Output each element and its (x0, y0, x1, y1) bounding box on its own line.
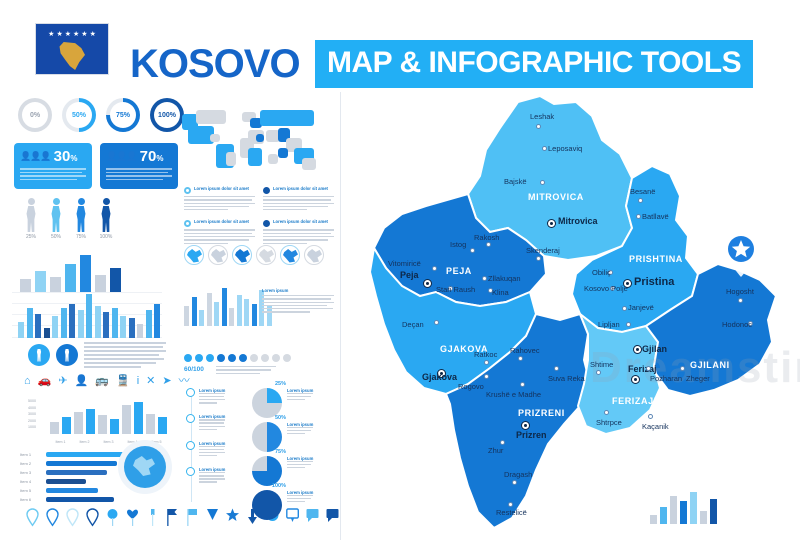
bar-a-6 (110, 268, 121, 292)
kosovo-silhouette (59, 42, 85, 70)
kosovo-map[interactable]: Dreamstime MITROVICAPRISHTINAPEJAGJAKOVA… (340, 88, 800, 548)
globe-icon-0 (184, 245, 204, 265)
bar-b-2 (35, 314, 41, 338)
pin-needle-icon[interactable] (146, 508, 159, 527)
text-block-body-2 (184, 229, 255, 243)
rating-dot-7 (261, 354, 269, 362)
bar-c-2-0 (98, 415, 107, 434)
mini-bar-6 (710, 499, 717, 524)
chart-c-y-axis: 50004000300020001000 (28, 398, 36, 431)
gender-description-text (84, 342, 166, 370)
city-marker-1 (542, 146, 547, 151)
globe-badge-icon (118, 440, 172, 494)
pin-dot-icon[interactable] (106, 508, 119, 527)
bar-c-0-1 (62, 417, 71, 434)
pie-label-3: 100% (272, 483, 286, 489)
person-head-3 (103, 198, 110, 205)
timeline-body-1 (199, 419, 225, 430)
pin-star-icon[interactable] (226, 508, 239, 527)
hbar-label-0: Item 1 (20, 452, 46, 457)
text-block-head-2: Lorem ipsum dolor sit amet (184, 219, 255, 227)
timeline-body-2 (199, 446, 225, 457)
pie-item-2: 75%Lorem ipsum (252, 456, 336, 486)
donut-label-2: 75% (116, 112, 130, 119)
person-figure-3: 100% (97, 198, 115, 240)
world-map-region-8 (260, 110, 314, 126)
dot-rating-label: 60/100 (184, 366, 204, 373)
mid-bar-3 (207, 293, 212, 326)
page-title: KOSOVO (130, 42, 300, 87)
pie-chart-3: 100% (252, 490, 282, 520)
pie-chart-1: 50% (252, 422, 282, 452)
city-marker-31 (680, 366, 685, 371)
city-marker-35 (648, 414, 653, 419)
rating-dot-2 (206, 354, 214, 362)
chart-c-columns (50, 402, 167, 434)
city-marker-24 (518, 356, 523, 361)
mid-text-title: Lorem ipsum (262, 288, 334, 293)
person-body-2 (74, 206, 88, 232)
globe-icon-3 (256, 245, 276, 265)
bar-b-13 (129, 318, 135, 338)
text-block-bullet-0 (184, 187, 191, 194)
text-block-2: Lorem ipsum dolor sit amet (184, 219, 255, 243)
pie-chart-2: 75% (252, 456, 282, 486)
rating-dot-0 (184, 354, 192, 362)
hbar-label-1: Item 2 (20, 461, 46, 466)
bar-b-14 (137, 324, 143, 338)
city-marker-33 (522, 422, 529, 429)
timeline-item-2: Lorem ipsum (186, 441, 260, 458)
flag-stars: ★★★★★★ (48, 31, 96, 38)
text-block-head-1: Lorem ipsum dolor sit amet (263, 186, 334, 194)
city-marker-36 (500, 440, 505, 445)
city-marker-32 (520, 382, 525, 387)
timeline-list: Lorem ipsumLorem ipsumLorem ipsumLorem i… (186, 388, 260, 494)
mid-bar-chart (184, 286, 272, 326)
text-block-title-0: Lorem ipsum dolor sit amet (194, 186, 249, 192)
city-marker-30 (646, 366, 651, 371)
bar-b-9 (95, 306, 101, 338)
text-block-head-3: Lorem ipsum dolor sit amet (263, 219, 334, 227)
globe-icon-1 (208, 245, 228, 265)
infographic-page: ★★★★★★ KOSOVO MAP & INFOGRAPHIC TOOLS 0%… (0, 0, 800, 555)
bar-b-10 (103, 312, 109, 338)
bar-c-4-0 (146, 414, 155, 434)
page-header: ★★★★★★ KOSOVO MAP & INFOGRAPHIC TOOLS (0, 18, 800, 80)
hbar-fill-3 (46, 479, 86, 484)
mid-bar-7 (237, 295, 242, 326)
city-marker-15 (610, 286, 615, 291)
bar-c-1-1 (86, 409, 95, 435)
mini-bar-2 (670, 496, 677, 524)
bar-b-0 (18, 322, 24, 338)
bar-c-4-1 (158, 417, 167, 434)
mini-bar-chart (650, 490, 717, 524)
pie-meta-0: Lorem ipsum (287, 388, 313, 402)
text-column-0: Lorem ipsum dolor sit ametLorem ipsum do… (184, 186, 255, 253)
map-pin-star-icon[interactable] (722, 231, 760, 279)
person-figure-2: 75% (72, 198, 90, 240)
cross-icon[interactable]: ✕ (146, 376, 155, 387)
pie-meta-3: Lorem ipsum (287, 490, 313, 504)
text-block-head-0: Lorem ipsum dolor sit amet (184, 186, 255, 194)
mid-bar-8 (244, 299, 249, 326)
person-body-0 (24, 206, 38, 232)
city-marker-5 (636, 214, 641, 219)
city-marker-20 (434, 320, 439, 325)
city-marker-12 (488, 288, 493, 293)
bar-a-3 (65, 264, 76, 292)
timeline-meta-3: Lorem ipsum (199, 467, 225, 484)
pie-item-3: 100%Lorem ipsum (252, 490, 336, 520)
mini-bar-4 (690, 492, 697, 524)
mid-bar-4 (214, 302, 219, 326)
stat-card-group: 👤👤👤30%👤👤👤70% (14, 143, 178, 189)
text-block-3: Lorem ipsum dolor sit amet (263, 219, 334, 243)
bar-c-3-0 (122, 405, 131, 434)
hbar-label-2: Item 3 (20, 470, 46, 475)
world-map-region-5 (226, 152, 236, 166)
city-marker-29 (484, 374, 489, 379)
donut-chart-group: 0%50%75%100% (18, 98, 184, 132)
city-marker-38 (508, 502, 513, 507)
donut-chart-3: 100% (150, 98, 184, 132)
pie-title-1: Lorem ipsum (287, 422, 313, 427)
hbar-label-3: Item 4 (20, 479, 46, 484)
city-marker-6 (536, 256, 541, 261)
donut-label-0: 0% (30, 112, 40, 119)
donut-label-1: 50% (72, 112, 86, 119)
text-block-bullet-3 (263, 220, 270, 227)
info-icon[interactable]: i (137, 376, 139, 387)
person-label-2: 75% (72, 234, 90, 240)
city-marker-18 (622, 306, 627, 311)
mid-bar-6 (229, 308, 234, 326)
pin-triangle-icon[interactable] (206, 508, 219, 527)
world-map-region-18 (278, 148, 288, 158)
timeline-title-3: Lorem ipsum (199, 467, 225, 472)
pie-label-2: 75% (275, 449, 286, 455)
text-block-body-0 (184, 196, 255, 210)
person-label-0: 25% (22, 234, 40, 240)
text-block-title-1: Lorem ipsum dolor sit amet (273, 186, 328, 192)
person-head-2 (78, 198, 85, 205)
bar-b-4 (52, 316, 58, 338)
timeline-meta-0: Lorem ipsum (199, 388, 225, 405)
pin-outline-blue-icon[interactable] (86, 508, 99, 527)
pie-title-2: Lorem ipsum (287, 456, 313, 461)
bar-c-1-0 (74, 412, 83, 434)
stat-card-lines-0 (20, 168, 86, 180)
pin-outline-mid-icon[interactable] (46, 508, 59, 527)
city-marker-37 (512, 480, 517, 485)
pie-chart-0: 25% (252, 388, 282, 418)
bar-b-15 (146, 310, 152, 338)
timeline-marker-0 (186, 388, 195, 397)
bar-b-11 (112, 308, 118, 338)
mini-bar-5 (700, 511, 707, 524)
stat-card-value-0: 30% (54, 148, 78, 165)
stat-card-value-1: 70% (140, 148, 164, 165)
rating-dot-5 (239, 354, 247, 362)
text-block-body-1 (263, 196, 334, 210)
text-block-columns: Lorem ipsum dolor sit ametLorem ipsum do… (184, 186, 334, 253)
bar-b-3 (44, 328, 50, 338)
world-map-region-1 (196, 110, 226, 124)
text-column-1: Lorem ipsum dolor sit ametLorem ipsum do… (263, 186, 334, 253)
bar-c-3-1 (134, 402, 143, 434)
city-marker-9 (432, 266, 437, 271)
city-marker-23 (484, 360, 489, 365)
timeline-meta-1: Lorem ipsum (199, 414, 225, 431)
donut-chart-0: 0% (18, 98, 52, 132)
bar-b-16 (154, 304, 160, 338)
person-body-1 (49, 206, 63, 232)
hbar-fill-1 (46, 461, 117, 466)
globe-icon-2 (232, 245, 252, 265)
hbar-label-4: Item 5 (20, 488, 46, 493)
world-map-region-3 (210, 134, 220, 142)
world-map-region-19 (268, 154, 278, 164)
city-marker-4 (638, 198, 643, 203)
text-block-body-3 (263, 229, 334, 243)
transport-icon-row: ⌂🚗✈👤🚌🚆i✕➤〰 (24, 376, 190, 387)
hbar-label-5: Item 6 (20, 497, 46, 502)
city-marker-19 (748, 321, 753, 326)
stat-card-1: 👤👤👤70% (100, 143, 178, 189)
text-block-0: Lorem ipsum dolor sit amet (184, 186, 255, 210)
mid-bar-0 (184, 306, 189, 326)
chart-c-label-1: Item 2 (74, 440, 95, 444)
pie-title-3: Lorem ipsum (287, 490, 313, 495)
mid-bar-2 (199, 310, 204, 326)
pie-label-0: 25% (275, 381, 286, 387)
person-head-0 (28, 198, 35, 205)
stat-card-top-1: 👤👤👤70% (106, 148, 172, 165)
bar-b-1 (27, 308, 33, 338)
timeline-item-3: Lorem ipsum (186, 467, 260, 484)
page-subtitle-banner: MAP & INFOGRAPHIC TOOLS (315, 40, 753, 88)
city-marker-3 (548, 220, 555, 227)
donut-chart-1: 50% (62, 98, 96, 132)
rating-dot-9 (283, 354, 291, 362)
mid-bar-5 (222, 288, 227, 326)
rating-dot-6 (250, 354, 258, 362)
bar-a-5 (95, 275, 106, 292)
mid-bar-1 (192, 297, 197, 326)
timeline-body-0 (199, 393, 225, 404)
pie-meta-2: Lorem ipsum (287, 456, 313, 470)
female-icon (56, 344, 78, 366)
people-icon-0: 👤👤👤 (20, 151, 51, 162)
donut-label-3: 100% (158, 112, 176, 119)
rating-dot-8 (272, 354, 280, 362)
text-block-bullet-2 (184, 220, 191, 227)
city-marker-26 (632, 376, 639, 383)
bar-chart-a (20, 250, 121, 292)
bar-b-7 (78, 310, 84, 338)
gender-icon-group (28, 344, 78, 366)
people-icon-1: 👤👤👤 (106, 151, 137, 162)
person-head-1 (53, 198, 60, 205)
pin-outline-light-icon[interactable] (26, 508, 39, 527)
chart-c-label-0: Item 1 (50, 440, 71, 444)
send-icon[interactable]: ➤ (162, 376, 171, 387)
world-map-region-10 (256, 134, 264, 142)
hbar-fill-2 (46, 470, 107, 475)
rating-dot-1 (195, 354, 203, 362)
city-marker-14 (608, 270, 613, 275)
male-icon (28, 344, 50, 366)
pin-outline-pale-icon[interactable] (66, 508, 79, 527)
rating-dot-3 (217, 354, 225, 362)
world-map-icon (182, 104, 330, 178)
world-map-region-17 (302, 158, 316, 170)
stat-card-0: 👤👤👤30% (14, 143, 92, 189)
timeline-title-2: Lorem ipsum (199, 441, 225, 446)
person-icon[interactable]: 👤 (75, 376, 89, 387)
bar-c-0-0 (50, 422, 59, 434)
donut-chart-2: 75% (106, 98, 140, 132)
bar-b-8 (86, 294, 92, 338)
timeline-title-0: Lorem ipsum (199, 388, 225, 393)
mid-bar-9 (252, 304, 257, 326)
world-map-region-14 (248, 148, 262, 166)
rating-dot-4 (228, 354, 236, 362)
bar-a-1 (35, 271, 46, 292)
timeline-meta-2: Lorem ipsum (199, 441, 225, 458)
hbar-row-5: Item 6 (20, 497, 175, 502)
city-marker-0 (536, 124, 541, 129)
text-block-bullet-1 (263, 187, 270, 194)
train-icon[interactable]: 🚆 (116, 376, 130, 387)
bar-a-0 (20, 279, 31, 292)
bar-c-2-1 (110, 419, 119, 434)
city-marker-34 (604, 410, 609, 415)
pie-label-1: 50% (275, 415, 286, 421)
pin-flag-light-icon[interactable] (186, 508, 199, 527)
city-marker-13 (448, 286, 453, 291)
globe-icon-row (184, 245, 324, 265)
mid-text-block: Lorem ipsum (262, 288, 334, 315)
person-label-3: 100% (97, 234, 115, 240)
timeline-marker-1 (186, 414, 195, 423)
timeline-title-1: Lorem ipsum (199, 414, 225, 419)
timeline-marker-2 (186, 441, 195, 450)
city-marker-2 (540, 180, 545, 185)
text-block-title-2: Lorem ipsum dolor sit amet (194, 219, 249, 225)
city-marker-28 (554, 366, 559, 371)
bar-a-4 (80, 255, 91, 292)
hbar-fill-4 (46, 488, 98, 493)
pie-item-0: 25%Lorem ipsum (252, 388, 336, 418)
timeline-marker-3 (186, 467, 195, 476)
chart-c-label-2: Item 3 (98, 440, 119, 444)
pin-flag-dark-icon[interactable] (166, 508, 179, 527)
kosovo-map-svg (340, 88, 800, 548)
mini-bar-1 (660, 507, 667, 524)
mini-bar-3 (680, 501, 687, 524)
pin-heart-icon[interactable] (126, 508, 139, 527)
pie-chart-list: 25%Lorem ipsum50%Lorem ipsum75%Lorem ips… (252, 388, 336, 524)
city-marker-16 (624, 280, 631, 287)
city-marker-10 (424, 280, 431, 287)
person-figure-1: 50% (47, 198, 65, 240)
bus-icon[interactable]: 🚌 (95, 376, 109, 387)
kosovo-flag-icon: ★★★★★★ (35, 23, 109, 75)
people-percentage-group: 25%50%75%100% (22, 198, 115, 240)
city-marker-25 (596, 370, 601, 375)
city-marker-21 (626, 322, 631, 327)
bar-b-5 (61, 308, 67, 338)
pie-title-0: Lorem ipsum (287, 388, 313, 393)
city-marker-8 (470, 248, 475, 253)
bar-a-2 (50, 277, 61, 292)
city-marker-17 (738, 298, 743, 303)
city-marker-7 (486, 242, 491, 247)
globe-icon-4 (280, 245, 300, 265)
city-marker-22 (634, 346, 641, 353)
bar-b-6 (69, 304, 75, 338)
dot-rating-description (216, 366, 276, 376)
bar-chart-c: 50004000300020001000 Item 1Item 2Item 3I… (28, 398, 168, 444)
city-marker-11 (482, 276, 487, 281)
bar-chart-b (18, 292, 160, 338)
road-icon[interactable]: 〰 (179, 376, 190, 387)
person-figure-0: 25% (22, 198, 40, 240)
timeline-body-3 (199, 472, 225, 483)
bar-b-12 (120, 316, 126, 338)
city-marker-27 (438, 370, 445, 377)
person-body-3 (99, 206, 113, 232)
mini-bar-0 (650, 515, 657, 524)
pie-meta-1: Lorem ipsum (287, 422, 313, 436)
car-icon[interactable]: 🚗 (38, 376, 52, 387)
pie-item-1: 50%Lorem ipsum (252, 422, 336, 452)
timeline-item-0: Lorem ipsum (186, 388, 260, 405)
home-icon[interactable]: ⌂ (24, 376, 31, 387)
globe-icon-5 (304, 245, 324, 265)
plane-icon[interactable]: ✈ (58, 376, 67, 387)
hbar-fill-5 (46, 497, 114, 502)
stat-card-lines-1 (106, 168, 172, 180)
dot-rating-row (184, 354, 291, 362)
person-label-1: 50% (47, 234, 65, 240)
text-block-title-3: Lorem ipsum dolor sit amet (273, 219, 328, 225)
stat-card-top-0: 👤👤👤30% (20, 148, 86, 165)
text-block-1: Lorem ipsum dolor sit amet (263, 186, 334, 210)
timeline-item-1: Lorem ipsum (186, 414, 260, 431)
